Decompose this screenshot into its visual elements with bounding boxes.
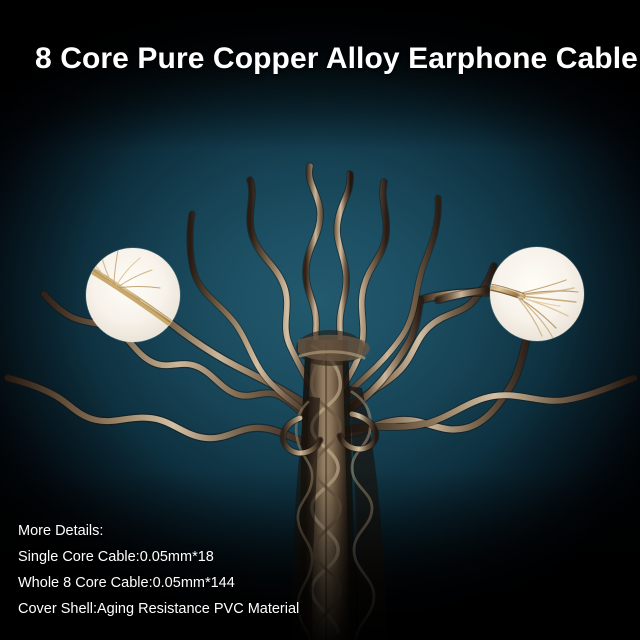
details-heading: More Details:	[18, 518, 438, 544]
detail-single-core: Single Core Cable:0.05mm*18	[18, 544, 438, 570]
detail-cover-shell: Cover Shell:Aging Resistance PVC Materia…	[18, 596, 438, 622]
details-block: More Details: Single Core Cable:0.05mm*1…	[18, 518, 438, 622]
detail-whole-cable: Whole 8 Core Cable:0.05mm*144	[18, 570, 438, 596]
right-magnifier	[484, 247, 584, 341]
page-title: 8 Core Pure Copper Alloy Earphone Cable	[35, 42, 638, 76]
product-banner: 8 Core Pure Copper Alloy Earphone Cable …	[0, 0, 640, 640]
cable-strand-3	[44, 294, 324, 430]
left-magnifier	[84, 248, 184, 342]
